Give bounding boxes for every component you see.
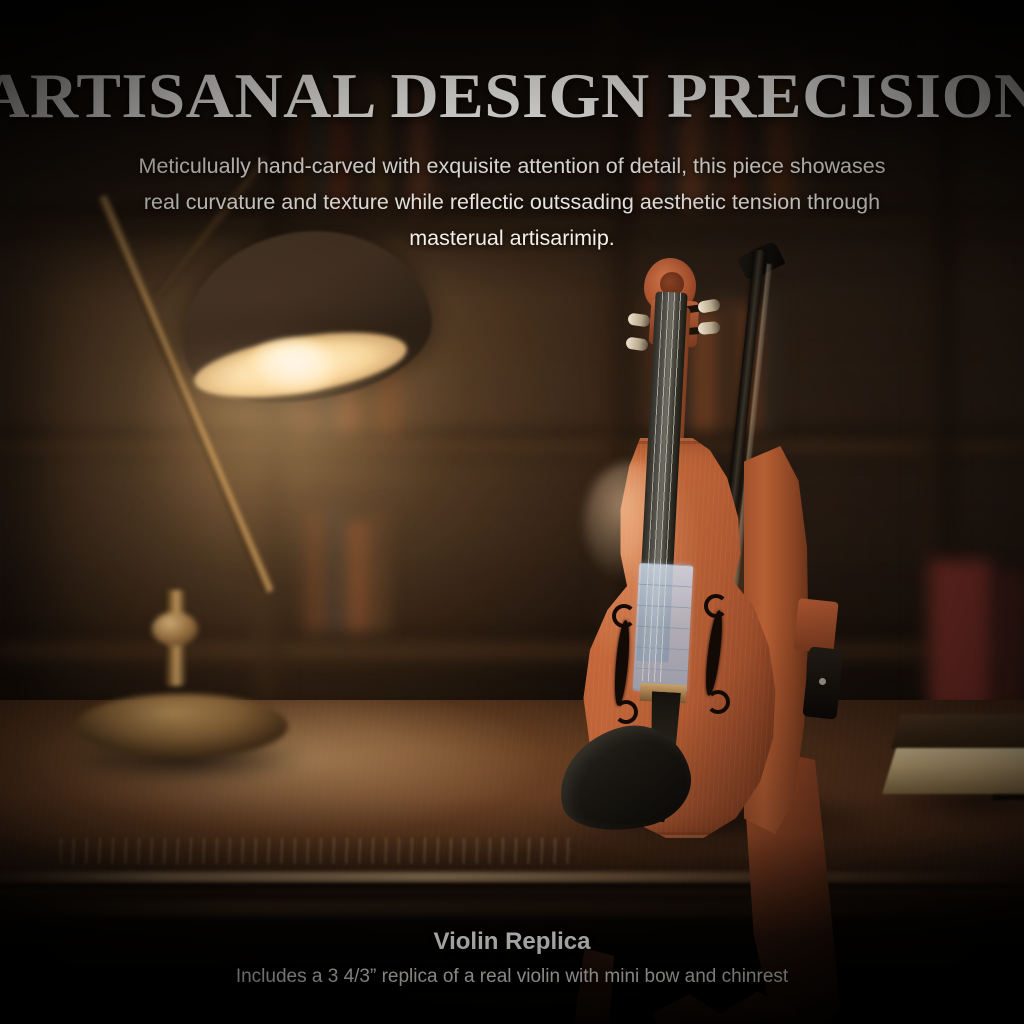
lamp-base [76, 694, 288, 758]
book-page-edges [882, 742, 1024, 794]
bow-grip [793, 598, 838, 654]
bow-frog-eye [819, 678, 826, 685]
violin-f-hole-left-lower-curl [614, 700, 638, 724]
violin-f-hole-left-upper-curl [612, 604, 636, 628]
desk-edge-highlight [0, 872, 1024, 882]
violin-tuning-peg-3 [627, 313, 650, 328]
violin-tuning-peg-2 [697, 321, 720, 335]
product-name: Violin Replica [0, 928, 1024, 956]
book-cover [891, 714, 1024, 748]
subheadline-line-1: Meticulually hand-carved with exquisite … [82, 148, 942, 184]
violin-replica [548, 248, 878, 848]
violin-tuning-peg-4 [625, 337, 648, 352]
bookshelf-books-red [930, 560, 1024, 710]
bookshelf-books-row-5 [306, 500, 389, 632]
product-description: Includes a 3 4/3” replica of a real viol… [0, 966, 1024, 988]
subheadline-line-3: masterual artisarimip. [82, 220, 942, 256]
poster-canvas: ARTISANAL DESIGN PRECISION Meticulually … [0, 0, 1024, 1024]
subheadline: Meticulually hand-carved with exquisite … [82, 148, 942, 256]
lamp-joint-knob [152, 612, 198, 646]
desk-specular-speckle [60, 838, 580, 864]
desk-front-panel [0, 900, 1024, 1024]
lamp-bulb [248, 338, 340, 392]
violin-f-hole-right-upper-curl [704, 594, 728, 618]
desk-front-highlight [0, 900, 1024, 916]
violin-f-hole-right-lower-curl [706, 690, 730, 714]
subheadline-line-2: real curvature and texture while reflect… [82, 184, 942, 220]
page-title: ARTISANAL DESIGN PRECISION [0, 60, 1024, 133]
violin-tuning-peg-1 [697, 298, 721, 314]
